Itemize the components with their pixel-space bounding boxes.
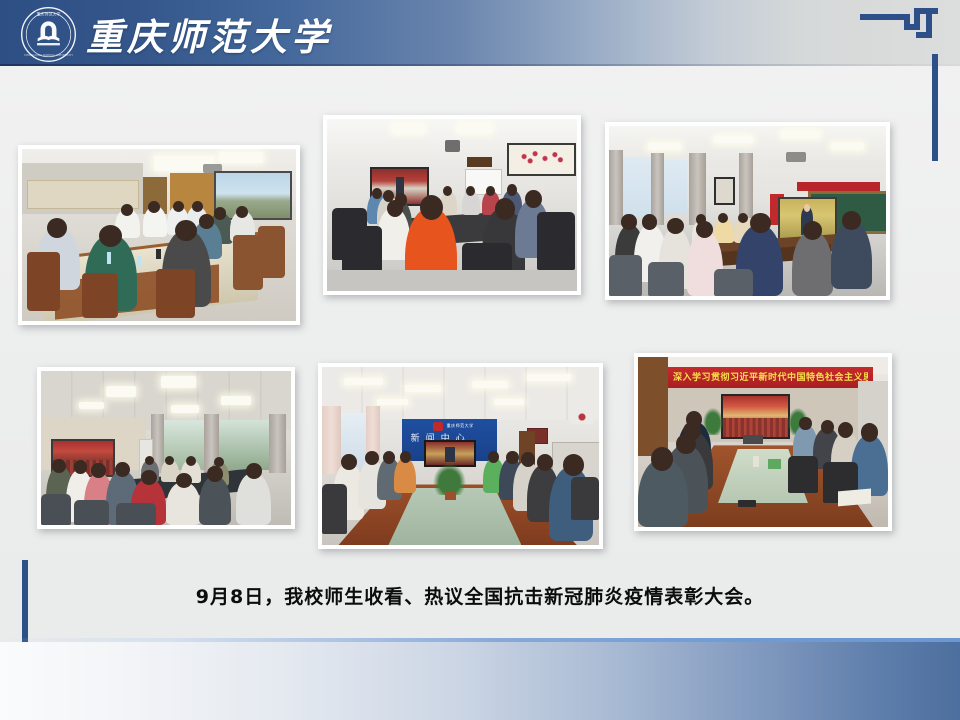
photo-4[interactable] bbox=[37, 367, 295, 529]
photo-6[interactable]: 深入学习贯彻习近平新时代中国特色社会主义思想 bbox=[634, 353, 892, 531]
photo-2[interactable] bbox=[323, 115, 581, 295]
photo-1[interactable] bbox=[18, 145, 300, 325]
slide-header-band: 重庆师范大学 CHONGQING NORMAL UNIVERSITY 重庆师范大… bbox=[0, 0, 960, 66]
slide-caption: 9月8日，我校师生收看、热议全国抗击新冠肺炎疫情表彰大会。 bbox=[0, 582, 960, 609]
corner-bracket-top-right-stem bbox=[932, 54, 938, 161]
svg-text:CHONGQING NORMAL UNIVERSITY: CHONGQING NORMAL UNIVERSITY bbox=[24, 53, 73, 57]
photo-3[interactable] bbox=[605, 122, 890, 300]
svg-text:重庆师范大学: 重庆师范大学 bbox=[37, 11, 61, 17]
university-name-title: 重庆师范大学 bbox=[86, 5, 332, 63]
photo-5[interactable]: 重庆师范大学 新闻中心 bbox=[318, 363, 603, 549]
slide-footer-band bbox=[0, 642, 960, 720]
university-seal-icon: 重庆师范大学 CHONGQING NORMAL UNIVERSITY bbox=[20, 6, 77, 63]
corner-bracket-top-right-icon bbox=[860, 8, 938, 56]
presentation-slide: 重庆师范大学 CHONGQING NORMAL UNIVERSITY 重庆师范大… bbox=[0, 0, 960, 720]
